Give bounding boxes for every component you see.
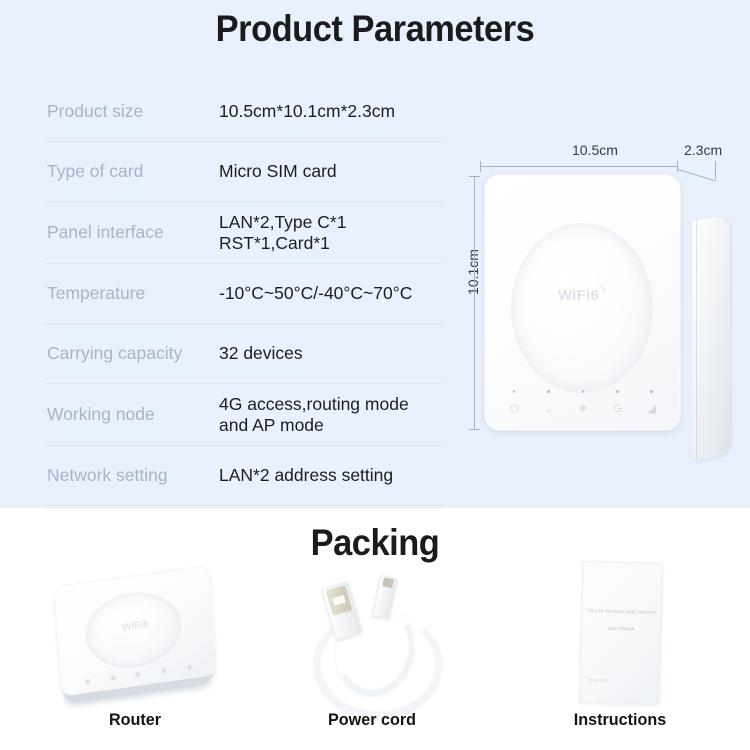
dimension-width-label: 10.5cm [572,142,618,158]
cable-illustration [252,560,492,710]
spec-value: LAN*2 address setting [219,465,393,486]
table-row: Panel interface LAN*2,Type C*1 RST*1,Car… [45,202,445,264]
mini-signal-led [187,664,192,670]
signal-icon: ◢ [643,402,661,416]
dimension-tick-bottom [469,429,480,430]
lan-led: ⛖ [574,390,592,416]
lan-led-dot [582,390,585,393]
usb-a-metal-shell [326,585,352,616]
packing-item-instructions: TD-LTE Wireless Data Terminal User Manua… [500,560,740,730]
mini-network-led [161,667,166,673]
power-led: ⏻ [505,390,523,416]
dimension-line-depth [678,169,717,182]
wifi-led: ᴗ [540,390,558,416]
spec-label: Carrying capacity [47,343,219,364]
led-indicator-row: ⏻ ᴗ ⛖ G [497,390,669,416]
network-led-dot [616,390,619,393]
spec-label: Panel interface [47,222,219,243]
spec-value: 4G access,routing mode and AP mode [219,394,409,436]
network-icon: G [608,402,626,416]
table-row: Working node 4G access,routing mode and … [45,384,445,446]
mini-router-device: WiFi6 [53,565,216,711]
dimension-depth-label: 2.3cm [684,142,722,158]
spec-value: Micro SIM card [219,161,337,182]
micro-usb-tip [382,577,394,588]
wifi6-logo: WiFi6 [485,287,680,304]
dimension-tick-left [480,161,481,172]
packing-section: Packing WiFi6 [0,508,750,750]
dimension-height-label: 10.1cm [465,249,481,295]
packing-item-label: Power cord [258,710,486,730]
spec-label: Product size [47,101,219,122]
spec-value: 32 devices [219,343,303,364]
manual-model-line: Model: CPE [589,678,608,683]
packing-title: Packing [26,522,724,564]
table-row: Network setting LAN*2 address setting [45,446,445,506]
product-spec-page: Product Parameters Product size 10.5cm*1… [0,0,750,750]
dimension-tick-top [469,176,480,177]
wifi-icon: ᴗ [540,402,558,416]
spec-value: 10.5cm*10.1cm*2.3cm [219,101,395,122]
spec-label: Working node [47,404,219,425]
signal-led-dot [650,390,653,393]
lan-icon: ⛖ [574,402,592,416]
packing-items: WiFi6 Router [0,560,750,750]
packing-item-router: WiFi6 Router [15,560,255,730]
signal-led: ◢ [643,390,661,416]
page-title: Product Parameters [26,8,724,50]
network-led: G [608,390,626,416]
packing-item-power-cord: Power cord [252,560,492,730]
spec-value: -10°C~50°C/-40°C~70°C [219,283,412,304]
dimension-tick-depth [715,161,716,179]
router-device: WiFi6 ⏻ ᴗ ⛖ [484,174,679,429]
mini-power-led [85,678,90,684]
user-manual-booklet: TD-LTE Wireless Data Terminal User Manua… [579,561,663,705]
manual-illustration: TD-LTE Wireless Data Terminal User Manua… [500,560,740,710]
mini-router-top-face: WiFi6 [53,565,217,697]
router-illustration: WiFi6 [15,560,255,710]
table-row: Type of card Micro SIM card [45,142,445,202]
power-led-dot [513,390,516,393]
spec-label: Network setting [47,465,219,486]
router-front-face: WiFi6 ⏻ ᴗ ⛖ [484,174,681,431]
spec-value: LAN*2,Type C*1 RST*1,Card*1 [219,212,346,254]
wifi-led-dot [547,390,550,393]
usb-cable [314,570,430,706]
power-icon: ⏻ [505,402,523,416]
router-oval-recess [511,223,653,393]
dimension-line-height [474,176,475,430]
spec-label: Type of card [47,161,219,182]
mini-lan-led [136,671,141,677]
manual-title-line: TD-LTE Wireless Data Terminal [583,608,661,615]
router-side-panel [692,216,730,461]
packing-item-label: Instructions [506,710,734,730]
table-row: Carrying capacity 32 devices [45,324,445,384]
packing-item-label: Router [21,710,249,730]
wifi6-logo-text: WiFi6 [558,287,599,304]
dimension-tick-right [677,161,678,172]
manual-subtitle-line: User Manual [582,625,660,632]
dimension-line-width [480,166,678,167]
spec-label: Temperature [47,283,219,304]
spec-table: Product size 10.5cm*10.1cm*2.3cm Type of… [45,82,445,506]
mini-wifi-led [110,675,115,681]
table-row: Temperature -10°C~50°C/-40°C~70°C [45,264,445,324]
product-parameters-section: Product Parameters Product size 10.5cm*1… [0,0,750,508]
table-row: Product size 10.5cm*10.1cm*2.3cm [45,82,445,142]
router-hero-image: 10.5cm 2.3cm 10.1cm WiFi6 [462,136,750,436]
